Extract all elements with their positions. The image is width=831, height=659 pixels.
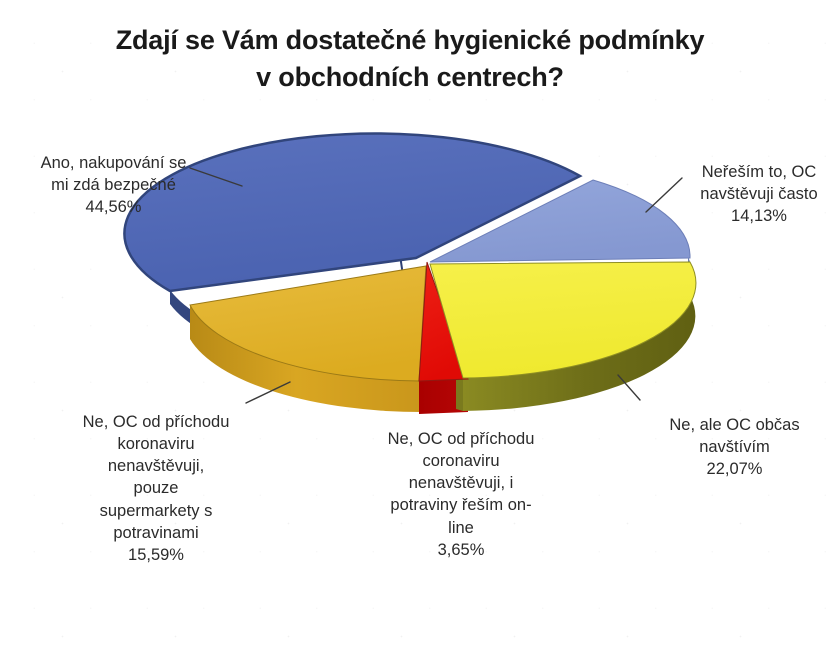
pie-label-ano-text: Ano, nakupování se mi zdá bezpečné <box>41 154 187 194</box>
pie-label-nekoro-text: Ne, OC od příchodu koronaviru nenavštěvu… <box>83 413 230 542</box>
pie-label-nekoro: Ne, OC od příchodu koronaviru nenavštěvu… <box>56 389 256 588</box>
pie-label-neresim-text: Neřeším to, OC navštěvuji často <box>700 163 817 203</box>
leader-line-neresim <box>646 178 682 212</box>
pie-label-nekoro-percent: 15,59% <box>56 544 256 566</box>
pie-label-ano: Ano, nakupování se mi zdá bezpečné 44,56… <box>6 130 221 241</box>
pie-label-neresim: Neřeším to, OC navštěvuji často 14,13% <box>684 139 831 250</box>
pie-label-neonline: Ne, OC od příchodu coronaviru nenavštěvu… <box>371 406 551 583</box>
pie-label-neale-text: Ne, ale OC občas navštívím <box>669 416 799 456</box>
pie-label-neonline-percent: 3,65% <box>371 539 551 561</box>
pie-label-neonline-text: Ne, OC od příchodu coronaviru nenavštěvu… <box>388 430 535 536</box>
pie-label-neale: Ne, ale OC občas navštívím 22,07% <box>642 392 827 503</box>
pie-label-neresim-percent: 14,13% <box>684 205 831 227</box>
pie-chart-figure: Zdají se Vám dostatečné hygienické podmí… <box>0 0 831 659</box>
pie-label-neale-percent: 22,07% <box>642 458 827 480</box>
pie-label-ano-percent: 44,56% <box>6 196 221 218</box>
